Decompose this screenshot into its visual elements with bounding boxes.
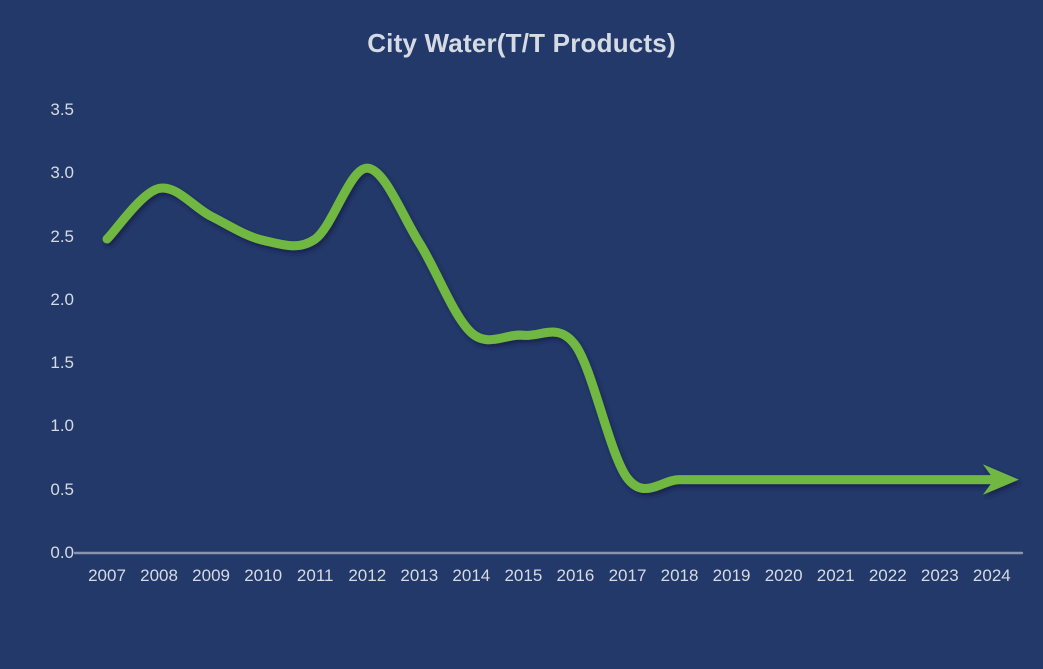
data-series-line (107, 168, 992, 488)
chart-container: City Water(T/T Products) 0.00.51.01.52.0… (0, 0, 1043, 669)
line-chart-plot (0, 0, 1043, 669)
